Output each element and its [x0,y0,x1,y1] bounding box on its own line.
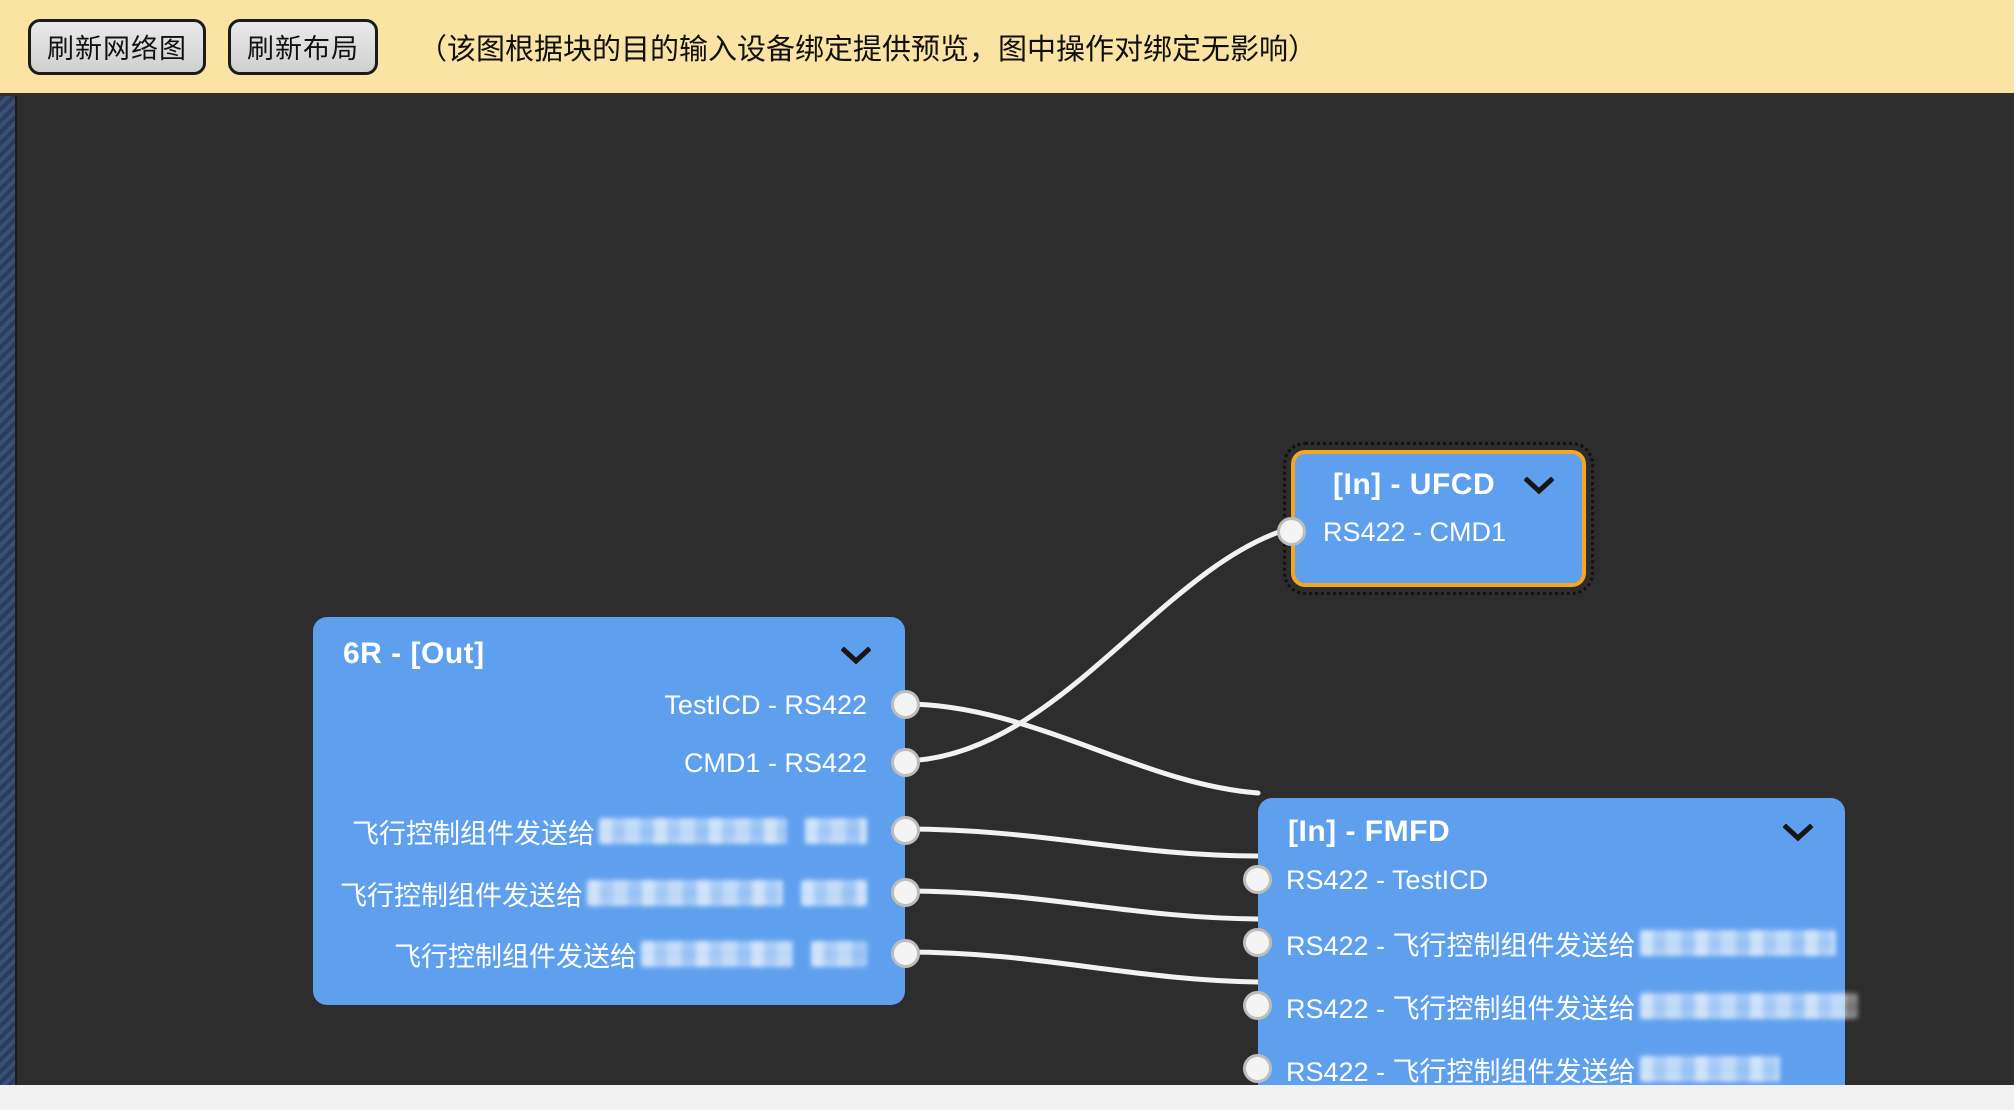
port-row-fmfd-redacted-3[interactable]: RS422 - 飞行控制组件发送给 [1286,1054,1780,1084]
redacted-block [811,941,867,967]
port-row-testicd[interactable]: TestICD - RS422 [664,690,867,720]
port-label-fmfd-testicd: RS422 - TestICD [1286,865,1488,896]
port-out-cmd1[interactable] [891,748,920,777]
port-label-fmfd-redacted-3: RS422 - 飞行控制组件发送给 [1286,1050,1636,1086]
port-row-fmfd-redacted-1[interactable]: RS422 - 飞行控制组件发送给 [1286,928,1836,958]
port-row-fmfd-redacted-2[interactable]: RS422 - 飞行控制组件发送给 [1286,991,1858,1021]
port-label-redacted-2: 飞行控制组件发送给 [340,874,583,913]
redacted-block [641,941,793,967]
port-label-testicd: TestICD - RS422 [664,690,867,721]
node-ufcd-title: [In] - UFCD [1333,468,1495,502]
refresh-layout-button[interactable]: 刷新布局 [228,19,378,75]
port-label-redacted-1: 飞行控制组件发送给 [352,812,595,851]
port-label-redacted-3: 飞行控制组件发送给 [394,935,637,974]
chevron-down-icon[interactable] [841,647,871,665]
redacted-block [801,880,867,906]
refresh-graph-button[interactable]: 刷新网络图 [28,19,206,75]
redacted-block [599,818,787,844]
port-row-redacted-3[interactable]: 飞行控制组件发送给 [394,939,867,969]
edge-testicd [905,704,1258,793]
redacted-block [1640,1056,1780,1082]
node-ufcd-header[interactable]: [In] - UFCD [1295,454,1582,516]
graph-canvas[interactable]: 6R - [Out] TestICD - RS422 CMD1 - RS422 … [0,96,2014,1085]
node-6r-out[interactable]: 6R - [Out] TestICD - RS422 CMD1 - RS422 … [313,617,905,1005]
node-fmfd-header[interactable]: [In] - FMFD [1258,798,1845,866]
port-out-redacted-3[interactable] [891,939,920,968]
port-row-redacted-2[interactable]: 飞行控制组件发送给 [340,878,867,908]
port-in-ufcd-cmd1[interactable] [1277,517,1306,546]
port-row-redacted-1[interactable]: 飞行控制组件发送给 [352,816,867,846]
port-out-testicd[interactable] [891,690,920,719]
port-in-fmfd-redacted-3[interactable] [1243,1054,1272,1083]
node-6r-header[interactable]: 6R - [Out] [313,617,905,691]
node-in-fmfd[interactable]: [In] - FMFD RS422 - TestICD RS422 - 飞行控制… [1258,798,1845,1085]
edge-row3 [905,829,1258,856]
redacted-block [1640,930,1836,956]
port-in-fmfd-redacted-2[interactable] [1243,991,1272,1020]
port-out-redacted-1[interactable] [891,816,920,845]
redacted-block [805,818,867,844]
chevron-down-icon[interactable] [1524,477,1554,495]
port-row-ufcd-cmd1[interactable]: RS422 - CMD1 [1323,517,1506,547]
redacted-block [587,880,783,906]
port-label-fmfd-redacted-2: RS422 - 飞行控制组件发送给 [1286,987,1636,1026]
network-graph-page: 刷新网络图 刷新布局 （该图根据块的目的输入设备绑定提供预览，图中操作对绑定无影… [0,0,2014,1110]
port-label-ufcd-cmd1: RS422 - CMD1 [1323,517,1506,548]
port-out-redacted-2[interactable] [891,878,920,907]
edge-row5 [905,952,1258,982]
edge-row4 [905,891,1258,919]
port-label-cmd1: CMD1 - RS422 [684,748,867,779]
edge-cmd1 [905,528,1291,761]
node-6r-title: 6R - [Out] [343,637,485,671]
canvas-left-rail [0,96,17,1085]
toolbar-note: （该图根据块的目的输入设备绑定提供预览，图中操作对绑定无影响） [418,26,1317,68]
port-row-fmfd-testicd[interactable]: RS422 - TestICD [1286,865,1488,895]
toolbar: 刷新网络图 刷新布局 （该图根据块的目的输入设备绑定提供预览，图中操作对绑定无影… [0,0,2014,96]
port-label-fmfd-redacted-1: RS422 - 飞行控制组件发送给 [1286,924,1636,963]
node-in-ufcd[interactable]: [In] - UFCD RS422 - CMD1 [1291,450,1586,587]
chevron-down-icon[interactable] [1783,824,1813,842]
redacted-block [1640,993,1858,1019]
port-row-cmd1[interactable]: CMD1 - RS422 [684,748,867,778]
port-in-fmfd-testicd[interactable] [1243,865,1272,894]
node-fmfd-title: [In] - FMFD [1288,815,1450,849]
port-in-fmfd-redacted-1[interactable] [1243,928,1272,957]
